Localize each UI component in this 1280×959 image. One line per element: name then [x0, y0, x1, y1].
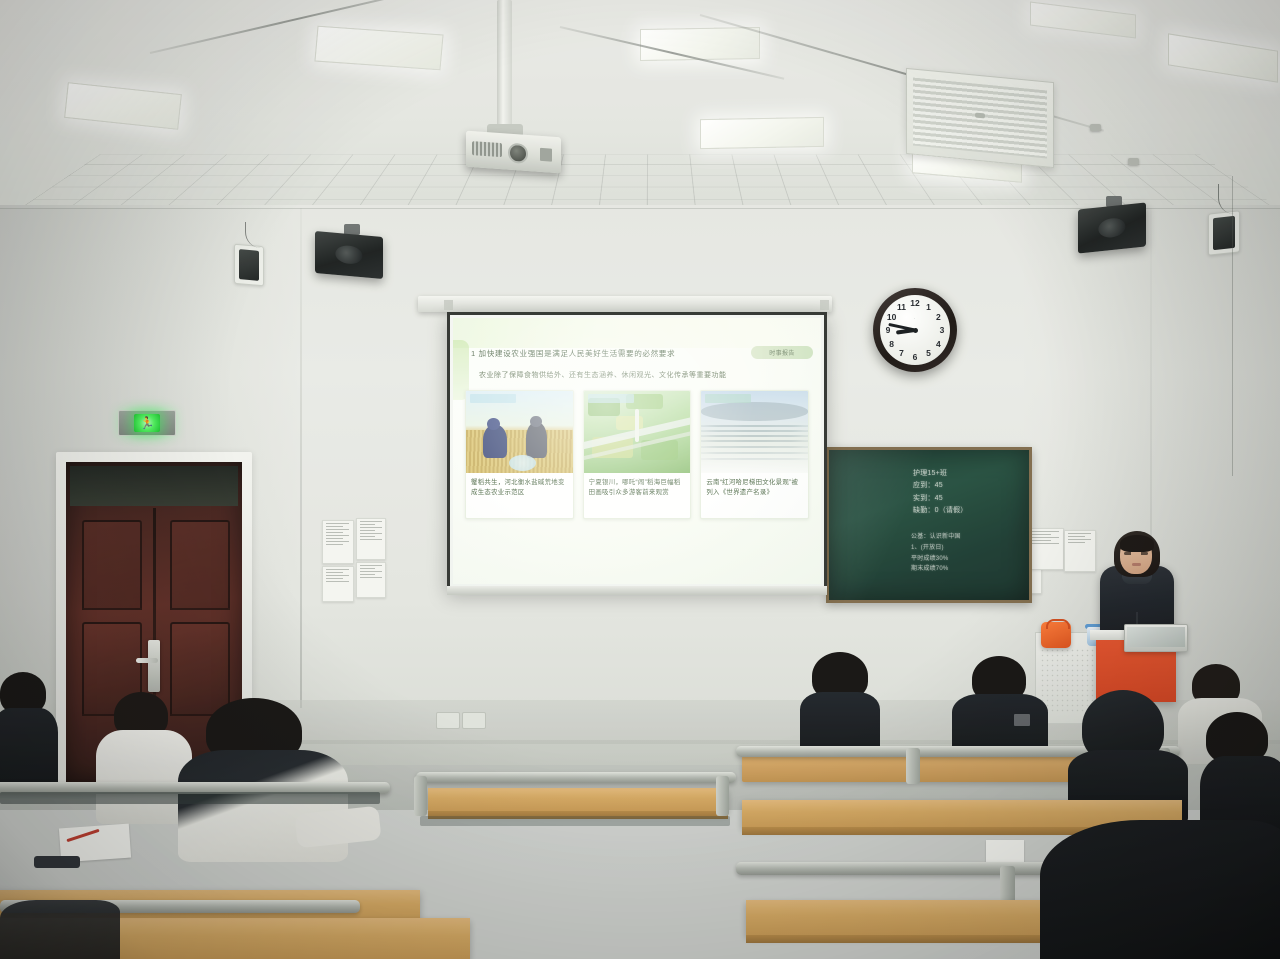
ceiling-grid-line — [1152, 154, 1280, 210]
ceiling-grid-line — [816, 154, 895, 210]
screen-bracket-left — [444, 300, 453, 310]
ceiling-grid-line — [0, 154, 143, 210]
ceiling-light-panel — [640, 27, 760, 61]
slide-header-band — [453, 318, 821, 348]
wall-outlet[interactable] — [462, 712, 486, 729]
projector-mount-pole — [497, 0, 512, 128]
emergency-exit-sign: 🏃 — [118, 410, 176, 436]
wall-speaker-left — [315, 231, 383, 279]
lecturer-fringe — [1120, 535, 1154, 552]
card-1-image — [466, 391, 573, 473]
blackboard-attendance-text: 护理15+班应到：45实到：45缺勤：0（请假） — [913, 468, 968, 517]
ac-vent-panel — [906, 68, 1054, 168]
card-2-image-tag — [588, 394, 634, 403]
door-lever[interactable] — [136, 658, 158, 663]
bb-line-3: 实到：45 — [913, 495, 943, 502]
terrace-mist — [701, 439, 808, 473]
desk-middle-center — [428, 788, 728, 812]
hani-terraces-art — [701, 391, 808, 473]
slide-card-1: 蟹稻共生，河北衡水盐碱荒地变成生态农业示范区 — [465, 390, 574, 519]
screen-bracket-right — [820, 300, 829, 310]
monitor-screen — [1127, 627, 1185, 647]
lecturer-mouth — [1132, 563, 1141, 566]
card-1-caption: 蟹稻共生，河北衡水盐碱荒地变成生态农业示范区 — [466, 473, 573, 518]
clock-numeral-3: 3 — [940, 325, 945, 335]
ceiling-grid-line — [212, 154, 353, 210]
bb-line-1: 护理15+班 — [913, 470, 947, 477]
wall-notice-2 — [356, 518, 386, 560]
ceiling-grid-line — [0, 154, 101, 210]
bench-post — [716, 776, 729, 816]
ceiling-grid-line — [274, 154, 395, 210]
wall-speaker-right — [1078, 202, 1146, 253]
farmers-rice-crab-field-art — [466, 391, 573, 473]
ac-knob — [975, 112, 985, 118]
student-left-edge — [0, 672, 60, 792]
slide-card-3: 云南“红河哈尼梯田文化景观”被列入《世界遗产名录》 — [700, 390, 809, 519]
door-handle[interactable] — [148, 640, 160, 692]
farmer-figure-left — [483, 425, 506, 458]
door-panel — [170, 520, 230, 610]
card-3-image-tag — [705, 394, 751, 403]
screen-bottom-bar — [447, 586, 827, 595]
clock-numeral-6: 6 — [913, 352, 918, 362]
clock-numeral-5: 5 — [926, 348, 931, 358]
classroom-photo: 🏃 · 121234567891011 护理15+班应到： — [0, 0, 1280, 959]
wall-pillar-edge — [300, 208, 302, 708]
bb-line-2: 应到：45 — [913, 482, 943, 489]
student-front-center — [178, 698, 348, 858]
student-jacket — [1040, 820, 1280, 959]
wall-plate-inner — [239, 249, 259, 281]
farmer-figure-right — [526, 422, 547, 458]
wall-outlet[interactable] — [436, 712, 460, 729]
card-3-caption: 云南“红河哈尼梯田文化景观”被列入《世界遗产名录》 — [701, 473, 808, 518]
blackboard-notes-text: 公基：认识新中国 1、(开放日) 平时成绩30% 期末成绩70% — [911, 532, 961, 575]
blackboard: 护理15+班应到：45实到：45缺勤：0（请假） 公基：认识新中国 1、(开放日… — [826, 447, 1032, 603]
bb-line-4: 缺勤：0（请假） — [913, 507, 968, 514]
ceiling-grid-line — [336, 154, 437, 210]
door-transom-window — [70, 466, 238, 506]
card-2-caption: 宁夏银川，哪吒“闹”稻海巨幅稻田画吸引众多游客前来观赏 — [584, 473, 691, 518]
projector-vent — [472, 141, 502, 157]
running-man-icon: 🏃 — [140, 417, 155, 429]
clock-brand-label: · — [914, 316, 916, 321]
student-back-left — [800, 652, 880, 752]
door-panel — [82, 520, 142, 610]
pencil-case — [34, 856, 80, 868]
handbag-strap — [1046, 619, 1070, 629]
rail-clip — [1128, 158, 1139, 165]
card-3-image — [701, 391, 808, 473]
slide-title: 1 加快建设农业强国是满足人民美好生活需要的必然要求 — [471, 348, 737, 359]
speaker-cone-icon — [1098, 217, 1125, 239]
slide-subtitle: 农业除了保障食物供给外、还有生态涵养、休闲观光、文化传承等重要功能 — [479, 370, 805, 380]
clock-center-pin — [913, 328, 918, 333]
clock-face: · 121234567891011 — [880, 295, 950, 365]
ceiling-light-panel — [700, 117, 824, 149]
clock-numeral-1: 1 — [926, 302, 931, 312]
wall-notice-3 — [322, 566, 354, 602]
wall-plate-left — [234, 244, 264, 287]
ceiling-grid-line — [584, 154, 606, 210]
ceiling-grid-line — [646, 154, 648, 210]
student-jacket — [0, 900, 120, 959]
clock-numeral-11: 11 — [897, 302, 906, 312]
card-1-image-tag — [470, 394, 516, 403]
clock-numeral-4: 4 — [936, 339, 941, 349]
bench-post — [414, 776, 427, 816]
wall-notice-1 — [322, 520, 354, 564]
card-2-image — [584, 391, 691, 473]
desk-shadow — [420, 816, 730, 826]
paddy-art-aerial-art — [584, 391, 691, 473]
lecturer-eyes — [1124, 552, 1148, 555]
ceiling-projector — [466, 131, 561, 174]
clock-numeral-8: 8 — [889, 339, 894, 349]
student-jacket — [800, 692, 880, 754]
farmer-head-right — [530, 416, 542, 427]
podium-notice-2 — [1028, 528, 1064, 570]
screen-roller-case — [418, 296, 832, 312]
field-tower — [635, 409, 639, 442]
projector-lens-icon — [508, 143, 528, 164]
projector-panel — [540, 148, 552, 162]
projection-screen: 1 加快建设农业强国是满足人民美好生活需要的必然要求 时事报告 农业除了保障食物… — [447, 312, 827, 590]
desk-surface — [428, 788, 728, 812]
ceiling-grid-line — [88, 154, 269, 210]
podium-notice-3 — [1064, 530, 1096, 572]
clock-numeral-7: 7 — [899, 348, 904, 358]
clock-numeral-10: 10 — [887, 312, 896, 322]
student-foreground-left — [0, 900, 120, 959]
slide-card-2: 宁夏银川，哪吒“闹”稻海巨幅稻田画吸引众多游客前来观赏 — [583, 390, 692, 519]
exit-sign-glow: 🏃 — [134, 414, 160, 432]
presentation-slide: 1 加快建设农业强国是满足人民美好生活需要的必然要求 时事报告 农业除了保障食物… — [453, 318, 821, 584]
podium-monitor[interactable] — [1124, 624, 1188, 652]
slide-card-row: 蟹稻共生，河北衡水盐碱荒地变成生态农业示范区 — [465, 390, 809, 519]
slide-watermark-logo: 时事报告 — [751, 346, 813, 359]
ceiling-grid-line — [689, 154, 709, 210]
wall-clock: · 121234567891011 — [873, 288, 957, 372]
clock-numeral-2: 2 — [936, 312, 941, 322]
ceiling-tile-grid — [0, 154, 1280, 210]
student-back-mid — [952, 656, 1048, 760]
wall-conduit — [1232, 176, 1249, 476]
jacket-logo — [1014, 714, 1030, 726]
wall-notice-4 — [356, 562, 386, 598]
clock-numeral-9: 9 — [886, 325, 891, 335]
ceiling-grid-line — [26, 154, 227, 210]
bench-post — [906, 748, 920, 784]
bench-rail — [416, 772, 736, 783]
ceiling-grid-line — [774, 154, 833, 210]
student-foreground-right — [1040, 820, 1280, 959]
clock-numeral-12: 12 — [910, 298, 919, 308]
rail-clip — [1090, 124, 1101, 131]
ceiling-grid-line — [731, 154, 771, 210]
mountain-ridge — [701, 402, 808, 420]
speaker-cone-icon — [335, 245, 362, 266]
notebook-page — [986, 840, 1024, 862]
